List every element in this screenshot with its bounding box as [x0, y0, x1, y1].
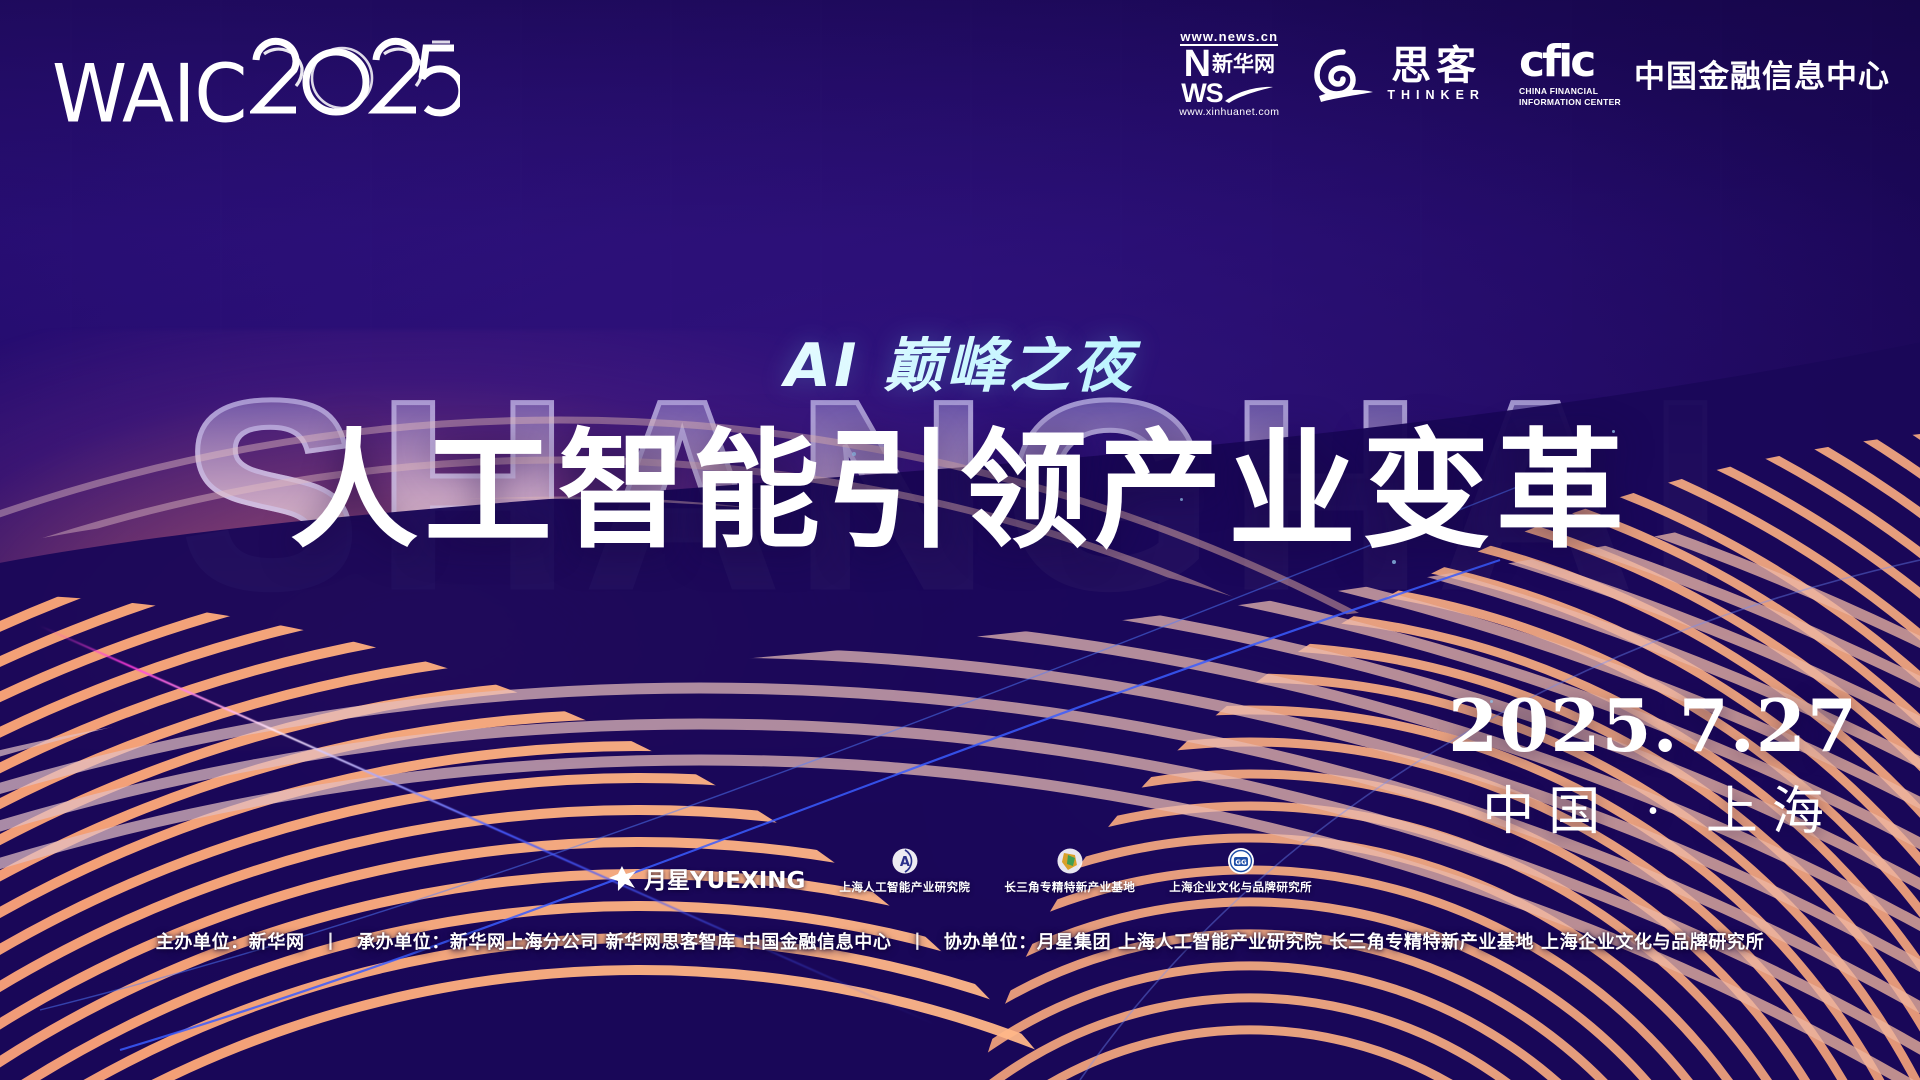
partner-logo-row: www.news.cn N 新华网 WS www.xinhuanet.com — [1179, 30, 1890, 117]
xinhua-n-mark: N — [1184, 48, 1210, 81]
thinker-spiral-icon — [1313, 46, 1377, 102]
waic-logo-year — [250, 34, 460, 112]
sponsor-shanghai-ai-institute: A 上海人工智能产业研究院 — [839, 846, 970, 895]
event-place: 中国 · 上海 — [1448, 786, 1858, 838]
cfic-sub-line-2: INFORMATION CENTER — [1519, 97, 1621, 107]
sponsor-label: 上海企业文化与品牌研究所 — [1169, 879, 1312, 895]
event-date: 2025.7.27 — [1448, 690, 1858, 762]
event-subtitle: AI 巅峰之夜 — [0, 336, 1920, 396]
credits-line: 主办单位：新华网 丨 承办单位：新华网上海分公司 新华网思客智库 中国金融信息中… — [0, 928, 1920, 954]
poster-header: WAIC — [0, 0, 1920, 140]
xinhua-ws-mark: WS — [1181, 81, 1223, 105]
sponsor-yangtze-delta-base: 长三角专精特新产业基地 — [1004, 846, 1135, 895]
sponsor-label: 长三角专精特新产业基地 — [1004, 879, 1135, 895]
yuexing-star-icon — [608, 863, 638, 893]
ai-globe-icon: A — [890, 846, 920, 876]
sponsor-brand-institute: GG 上海企业文化与品牌研究所 — [1169, 846, 1312, 895]
cfic-letters: cfic — [1519, 40, 1621, 84]
sponsor-label: 月星YUEXING — [644, 861, 805, 895]
partner-logo-thinker: 思客 THINKER — [1313, 46, 1485, 102]
thinker-english-name: THINKER — [1387, 89, 1485, 102]
sponsor-yuexing: 月星YUEXING — [608, 861, 805, 895]
delta-base-icon — [1055, 846, 1085, 876]
credits-coorganizer: 协办单位：月星集团 上海人工智能产业研究院 长三角专精特新产业基地 上海企业文化… — [944, 932, 1764, 953]
sponsor-logo-row: 月星YUEXING A 上海人工智能产业研究院 长三角专精特新产业基地 — [608, 846, 1312, 895]
sponsor-label: 上海人工智能产业研究院 — [839, 879, 970, 895]
thinker-chinese-name: 思客 — [1391, 46, 1481, 86]
partner-logo-xinhua-news: www.news.cn N 新华网 WS www.xinhuanet.com — [1179, 30, 1279, 117]
event-headline: 人工智能引领产业变革 — [0, 420, 1920, 563]
svg-text:GG: GG — [1235, 859, 1247, 867]
svg-text:A: A — [900, 855, 910, 870]
xinhua-chinese-name: 新华网 — [1212, 54, 1275, 75]
cfic-chinese-name: 中国金融信息中心 — [1634, 51, 1890, 96]
credits-organizer: 承办单位：新华网上海分公司 新华网思客智库 中国金融信息中心 — [357, 932, 892, 953]
event-date-block: 2025.7.27 中国 · 上海 — [1448, 690, 1858, 838]
credits-host: 主办单位：新华网 — [156, 932, 305, 953]
waic-logo-wordmark: WAIC — [52, 54, 246, 135]
credits-separator-2: 丨 — [908, 932, 927, 953]
credits-separator-1: 丨 — [321, 932, 340, 953]
xinhua-url-bottom: www.xinhuanet.com — [1179, 107, 1279, 118]
waic-2025-event-poster: SHANGHAI — [0, 0, 1920, 1080]
cfic-sub-line-1: CHINA FINANCIAL — [1519, 86, 1621, 96]
waic-logo: WAIC — [52, 34, 460, 132]
partner-logo-cfic: cfic CHINA FINANCIAL INFORMATION CENTER … — [1519, 40, 1890, 107]
xinhua-swoosh-icon — [1223, 84, 1275, 104]
brand-seal-icon: GG — [1226, 846, 1256, 876]
